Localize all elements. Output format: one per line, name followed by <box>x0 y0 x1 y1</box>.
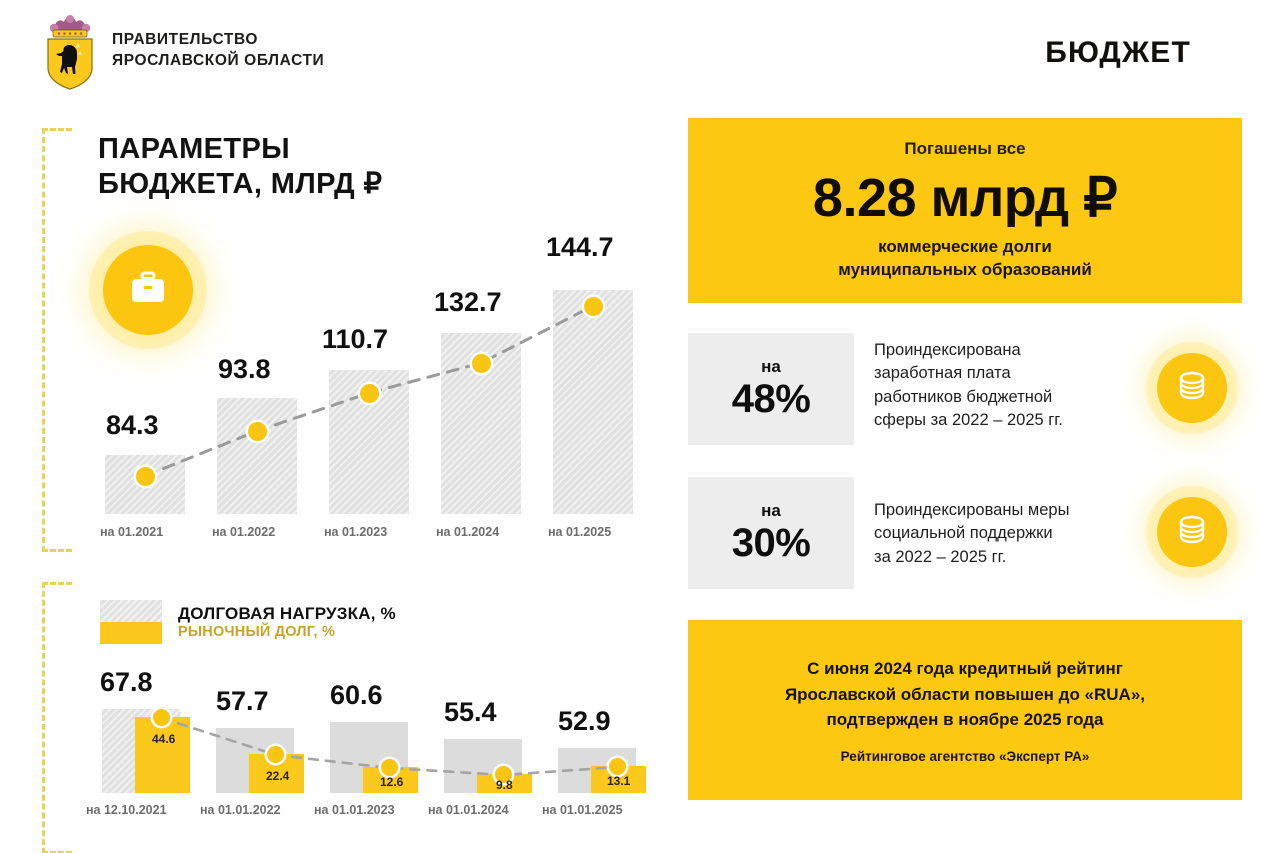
org-label-line1: ПРАВИТЕЛЬСТВО <box>112 30 324 51</box>
trend-dot-2021 <box>136 467 155 486</box>
debt-load-chart: 67.8 57.7 60.6 55.4 52.9 44.6 22.4 12.6 … <box>0 670 660 850</box>
debt-axis-label-4: на 01.01.2024 <box>428 803 509 817</box>
trend-dot-2022 <box>248 422 267 441</box>
debt-value-2: 57.7 <box>216 686 269 717</box>
stat-desc-30-line1: Проиндексированы меры <box>874 499 1154 522</box>
coins-badge-30 <box>1157 497 1227 567</box>
stat-desc-48-line3: работников бюджетной <box>874 386 1144 409</box>
legend-label-market-debt: РЫНОЧНЫЙ ДОЛГ, % <box>178 624 396 640</box>
hero-sub-line2: муниципальных образований <box>838 259 1092 282</box>
rating-line1: С июня 2024 года кредитный рейтинг <box>785 656 1145 682</box>
credit-rating-card: С июня 2024 года кредитный рейтинг Яросл… <box>688 620 1242 800</box>
trend-dot-2023 <box>360 384 379 403</box>
legend-swatch <box>100 600 162 644</box>
yaroslavl-coat-of-arms-bear-icon <box>42 12 98 90</box>
stat-desc-48-line4: сферы за 2022 – 2025 гг. <box>874 409 1144 432</box>
hero-big-value: 8.28 млрд ₽ <box>813 166 1117 229</box>
debt-bar-yellow-1 <box>135 717 190 793</box>
stat-value-box-30: на 30% <box>688 477 854 589</box>
stat-desc-30-line2: социальной поддержки <box>874 522 1154 545</box>
stat-desc-48-line2: заработная плата <box>874 362 1144 385</box>
debt-value-3: 60.6 <box>330 680 383 711</box>
debt-trend-dot-3 <box>381 759 398 776</box>
axis-label-2021: на 01.2021 <box>100 525 163 539</box>
hero-card-commercial-debt: Погашены все 8.28 млрд ₽ коммерческие до… <box>688 118 1242 303</box>
trend-dot-2025 <box>584 297 603 316</box>
left-panel: ПАРАМЕТРЫ БЮДЖЕТА, МЛРД ₽ <box>0 110 660 853</box>
debt-trend-dot-5 <box>609 758 626 775</box>
debt-value-4: 55.4 <box>444 697 497 728</box>
stat-description-30: Проиндексированы меры социальной поддерж… <box>874 499 1154 569</box>
right-panel: Погашены все 8.28 млрд ₽ коммерческие до… <box>688 0 1279 853</box>
debt-value-5: 52.9 <box>558 706 611 737</box>
bar-value-2021: 84.3 <box>106 410 159 441</box>
hero-small-label: Погашены все <box>904 139 1025 159</box>
debt-axis-label-2: на 01.01.2022 <box>200 803 281 817</box>
debt-axis-label-1: на 12.10.2021 <box>86 803 167 817</box>
hero-sub-line1: коммерческие долги <box>838 236 1092 259</box>
stat-desc-48-line1: Проиндексирована <box>874 339 1144 362</box>
trend-dot-2024 <box>472 354 491 373</box>
coins-stack-icon <box>1177 370 1207 407</box>
stat-row-48: на 48% Проиндексирована заработная плата… <box>688 333 1248 445</box>
coins-stack-icon <box>1177 514 1207 551</box>
bar-value-2024: 132.7 <box>434 287 502 318</box>
market-debt-value-5: 13.1 <box>607 774 630 788</box>
rating-main-text: С июня 2024 года кредитный рейтинг Яросл… <box>785 656 1145 733</box>
org-label-line2: ЯРОСЛАВСКОЙ ОБЛАСТИ <box>112 51 324 72</box>
debt-axis-label-5: на 01.01.2025 <box>542 803 623 817</box>
stat-na-label-48: на <box>761 357 781 377</box>
debt-trend-dot-1 <box>153 709 170 726</box>
org-label: ПРАВИТЕЛЬСТВО ЯРОСЛАВСКОЙ ОБЛАСТИ <box>112 30 324 72</box>
org-logo-block: ПРАВИТЕЛЬСТВО ЯРОСЛАВСКОЙ ОБЛАСТИ <box>42 12 324 90</box>
bar-value-2023: 110.7 <box>322 324 388 355</box>
stat-percent-48: 48% <box>732 377 811 422</box>
market-debt-value-2: 22.4 <box>266 769 289 783</box>
rating-line2: Ярославской области повышен до «RUA», <box>785 682 1145 708</box>
market-debt-value-1: 44.6 <box>152 732 175 746</box>
stat-desc-30-line3: за 2022 – 2025 гг. <box>874 546 1154 569</box>
debt-chart-legend: ДОЛГОВАЯ НАГРУЗКА, % РЫНОЧНЫЙ ДОЛГ, % <box>100 600 396 644</box>
market-debt-value-3: 12.6 <box>380 775 403 789</box>
legend-labels: ДОЛГОВАЯ НАГРУЗКА, % РЫНОЧНЫЙ ДОЛГ, % <box>178 604 396 640</box>
legend-label-debt-load: ДОЛГОВАЯ НАГРУЗКА, % <box>178 604 396 624</box>
market-debt-value-4: 9.8 <box>496 778 513 792</box>
debt-value-1: 67.8 <box>100 667 153 698</box>
axis-label-2025: на 01.2025 <box>548 525 611 539</box>
infographic-page: ПРАВИТЕЛЬСТВО ЯРОСЛАВСКОЙ ОБЛАСТИ БЮДЖЕТ… <box>0 0 1279 853</box>
stat-percent-30: 30% <box>732 521 811 566</box>
debt-trend-dot-2 <box>267 746 284 763</box>
bar-2022 <box>217 398 297 514</box>
stat-row-30: на 30% Проиндексированы меры социальной … <box>688 477 1248 589</box>
stat-value-box-48: на 48% <box>688 333 854 445</box>
stat-na-label-30: на <box>761 501 781 521</box>
budget-parameters-chart: 84.3 93.8 110.7 132.7 144.7 на 01.2021 н… <box>0 110 660 550</box>
legend-swatch-gray <box>100 600 162 622</box>
axis-label-2023: на 01.2023 <box>324 525 387 539</box>
rating-source: Рейтинговое агентство «Эксперт РА» <box>841 749 1090 764</box>
hero-sub-text: коммерческие долги муниципальных образов… <box>838 236 1092 282</box>
bar-value-2022: 93.8 <box>218 354 271 385</box>
axis-label-2022: на 01.2022 <box>212 525 275 539</box>
debt-axis-label-3: на 01.01.2023 <box>314 803 395 817</box>
bar-value-2025: 144.7 <box>546 232 614 263</box>
legend-swatch-yellow <box>100 622 162 644</box>
axis-label-2024: на 01.2024 <box>436 525 499 539</box>
bar-2025 <box>553 290 633 514</box>
stat-description-48: Проиндексирована заработная плата работн… <box>874 339 1144 433</box>
coins-badge-48 <box>1157 353 1227 423</box>
rating-line3: подтвержден в ноябре 2025 года <box>785 707 1145 733</box>
